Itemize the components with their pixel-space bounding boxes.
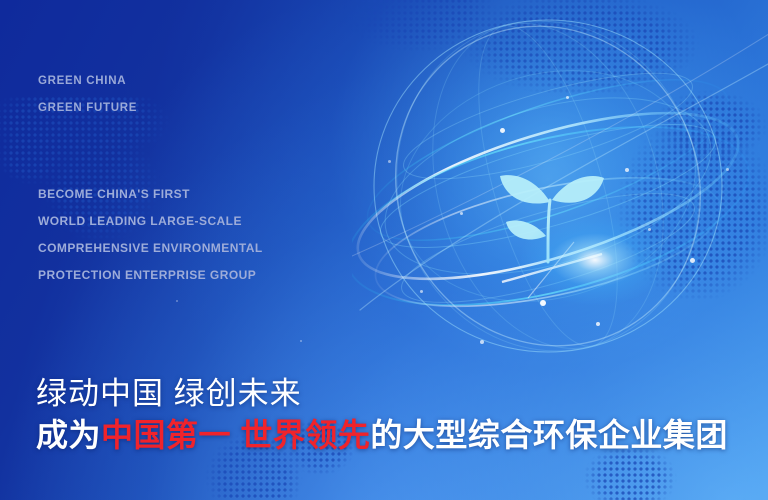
headline-line-1: 绿动中国 绿创未来 xyxy=(36,368,302,413)
headline-highlight: 中国第一 世界领先 xyxy=(101,417,370,453)
eyebrow-line-2: GREEN FUTURE xyxy=(38,102,137,114)
headline-suffix: 的大型综合环保企业集团 xyxy=(370,417,728,453)
headline-prefix: 成为 xyxy=(36,417,101,453)
text-layer: GREEN CHINA GREEN FUTURE BECOME CHINA'S … xyxy=(0,0,768,500)
tagline-line-3: COMPREHENSIVE ENVIRONMENTAL xyxy=(38,241,263,255)
promo-banner: GREEN CHINA GREEN FUTURE BECOME CHINA'S … xyxy=(0,0,768,500)
tagline-line-1: BECOME CHINA'S FIRST xyxy=(38,187,190,201)
tagline-line-2: WORLD LEADING LARGE-SCALE xyxy=(38,214,242,228)
tagline-line-4: PROTECTION ENTERPRISE GROUP xyxy=(38,268,256,282)
headline-line-2: 成为中国第一 世界领先的大型综合环保企业集团 xyxy=(36,410,728,456)
eyebrow-line-1: GREEN CHINA xyxy=(38,75,126,87)
